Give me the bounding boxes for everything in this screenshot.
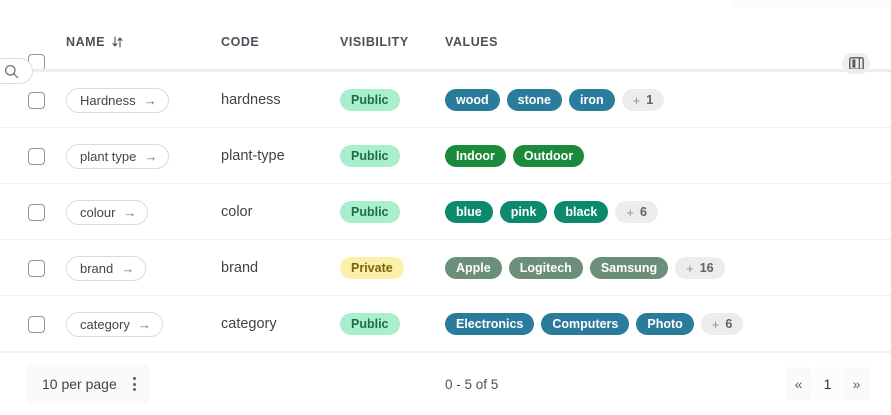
value-tag[interactable]: Outdoor — [513, 145, 584, 167]
record-range-label: 0 - 5 of 5 — [445, 353, 498, 415]
row-checkbox-cell — [28, 240, 45, 296]
arrow-right-icon: → — [138, 318, 151, 331]
per-page-selector[interactable]: 10 per page — [26, 364, 149, 404]
table-footer: 10 per page 0 - 5 of 5 « 1 » — [0, 352, 891, 415]
value-tag[interactable]: Photo — [636, 313, 693, 335]
value-tag[interactable]: black — [554, 201, 608, 223]
more-values-count: 1 — [646, 93, 653, 107]
row-checkbox[interactable] — [28, 92, 45, 109]
data-table-page: NAME CODE VISIBILITY VALUES — [0, 0, 891, 415]
tag-list: AppleLogitechSamsung+16 — [445, 257, 725, 279]
code-value: brand — [221, 260, 258, 276]
search-icon[interactable] — [0, 58, 33, 84]
name-pill-label: plant type — [80, 149, 136, 164]
code-cell: color — [221, 184, 252, 240]
visibility-cell: Public — [340, 128, 400, 184]
name-cell: colour→ — [66, 184, 148, 240]
name-pill-label: Hardness — [80, 93, 136, 108]
name-cell: category→ — [66, 296, 163, 352]
visibility-badge: Private — [340, 257, 404, 279]
name-pill-label: brand — [80, 261, 113, 276]
value-tag[interactable]: Logitech — [509, 257, 583, 279]
sort-arrows-icon[interactable] — [112, 36, 123, 48]
code-value: plant-type — [221, 148, 285, 164]
values-cell: AppleLogitechSamsung+16 — [445, 240, 725, 296]
values-cell: ElectronicsComputersPhoto+6 — [445, 296, 743, 352]
visibility-cell: Public — [340, 72, 400, 128]
row-checkbox[interactable] — [28, 148, 45, 165]
column-header-code[interactable]: CODE — [221, 22, 259, 62]
column-header-values-label: VALUES — [445, 35, 498, 49]
table-row[interactable]: Hardness→hardnessPublicwoodstoneiron+1 — [0, 72, 891, 128]
visibility-badge: Public — [340, 201, 400, 223]
tag-list: ElectronicsComputersPhoto+6 — [445, 313, 743, 335]
value-tag[interactable]: wood — [445, 89, 500, 111]
tag-list: woodstoneiron+1 — [445, 89, 664, 111]
value-tag[interactable]: Indoor — [445, 145, 506, 167]
value-tag[interactable]: Apple — [445, 257, 502, 279]
code-value: color — [221, 204, 252, 220]
row-checkbox-cell — [28, 72, 45, 128]
visibility-badge: Public — [340, 313, 400, 335]
code-cell: brand — [221, 240, 258, 296]
arrow-right-icon: → — [144, 94, 157, 107]
visibility-cell: Private — [340, 240, 404, 296]
tag-list: bluepinkblack+6 — [445, 201, 658, 223]
vertical-dots-icon[interactable] — [133, 377, 136, 391]
more-values-chip[interactable]: +6 — [615, 201, 658, 223]
table-header: NAME CODE VISIBILITY VALUES — [0, 22, 891, 62]
column-header-name[interactable]: NAME — [66, 22, 123, 62]
name-pill-link[interactable]: Hardness→ — [66, 88, 169, 113]
per-page-label: 10 per page — [42, 376, 117, 392]
arrow-right-icon: → — [123, 206, 136, 219]
value-tag[interactable]: stone — [507, 89, 562, 111]
values-cell: bluepinkblack+6 — [445, 184, 658, 240]
tag-list: IndoorOutdoor — [445, 145, 584, 167]
value-tag[interactable]: Electronics — [445, 313, 534, 335]
pagination-next-button[interactable]: » — [843, 367, 870, 400]
code-cell: hardness — [221, 72, 281, 128]
more-values-count: 6 — [640, 205, 647, 219]
visibility-cell: Public — [340, 184, 400, 240]
name-pill-label: category — [80, 317, 130, 332]
value-tag[interactable]: Computers — [541, 313, 629, 335]
code-value: category — [221, 316, 277, 332]
column-header-code-label: CODE — [221, 35, 259, 49]
column-header-values[interactable]: VALUES — [445, 22, 498, 62]
column-header-name-label: NAME — [66, 35, 105, 49]
name-pill-label: colour — [80, 205, 115, 220]
row-checkbox-cell — [28, 128, 45, 184]
plus-icon: + — [686, 261, 694, 276]
pagination-page-1[interactable]: 1 — [814, 367, 841, 400]
value-tag[interactable]: iron — [569, 89, 615, 111]
table-row[interactable]: colour→colorPublicbluepinkblack+6 — [0, 184, 891, 240]
name-pill-link[interactable]: brand→ — [66, 256, 146, 281]
code-cell: plant-type — [221, 128, 285, 184]
values-cell: woodstoneiron+1 — [445, 72, 664, 128]
more-values-chip[interactable]: +1 — [622, 89, 665, 111]
table-row[interactable]: brand→brandPrivateAppleLogitechSamsung+1… — [0, 240, 891, 296]
row-checkbox-cell — [28, 296, 45, 352]
more-values-chip[interactable]: +6 — [701, 313, 744, 335]
row-checkbox[interactable] — [28, 316, 45, 333]
plus-icon: + — [633, 93, 641, 108]
visibility-badge: Public — [340, 89, 400, 111]
name-cell: Hardness→ — [66, 72, 169, 128]
visibility-cell: Public — [340, 296, 400, 352]
row-checkbox[interactable] — [28, 204, 45, 221]
values-cell: IndoorOutdoor — [445, 128, 584, 184]
table-row[interactable]: plant type→plant-typePublicIndoorOutdoor — [0, 128, 891, 184]
value-tag[interactable]: pink — [500, 201, 548, 223]
code-value: hardness — [221, 92, 281, 108]
visibility-badge: Public — [340, 145, 400, 167]
value-tag[interactable]: blue — [445, 201, 493, 223]
name-pill-link[interactable]: category→ — [66, 312, 163, 337]
code-cell: category — [221, 296, 277, 352]
plus-icon: + — [712, 317, 720, 332]
name-pill-link[interactable]: plant type→ — [66, 144, 169, 169]
top-toolbar-strip — [731, 0, 891, 7]
arrow-right-icon: → — [144, 150, 157, 163]
name-pill-link[interactable]: colour→ — [66, 200, 148, 225]
name-cell: plant type→ — [66, 128, 169, 184]
column-header-visibility-label: VISIBILITY — [340, 35, 409, 49]
pagination-prev-button[interactable]: « — [785, 367, 812, 400]
row-checkbox-cell — [28, 184, 45, 240]
table-row[interactable]: category→categoryPublicElectronicsComput… — [0, 296, 891, 352]
table-body: Hardness→hardnessPublicwoodstoneiron+1pl… — [0, 72, 891, 352]
value-tag[interactable]: Samsung — [590, 257, 668, 279]
pagination: « 1 » — [785, 367, 870, 400]
more-values-count: 6 — [725, 317, 732, 331]
column-header-visibility[interactable]: VISIBILITY — [340, 22, 409, 62]
row-checkbox[interactable] — [28, 260, 45, 277]
name-cell: brand→ — [66, 240, 146, 296]
more-values-chip[interactable]: +16 — [675, 257, 725, 279]
plus-icon: + — [626, 205, 634, 220]
more-values-count: 16 — [700, 261, 714, 275]
arrow-right-icon: → — [121, 262, 134, 275]
